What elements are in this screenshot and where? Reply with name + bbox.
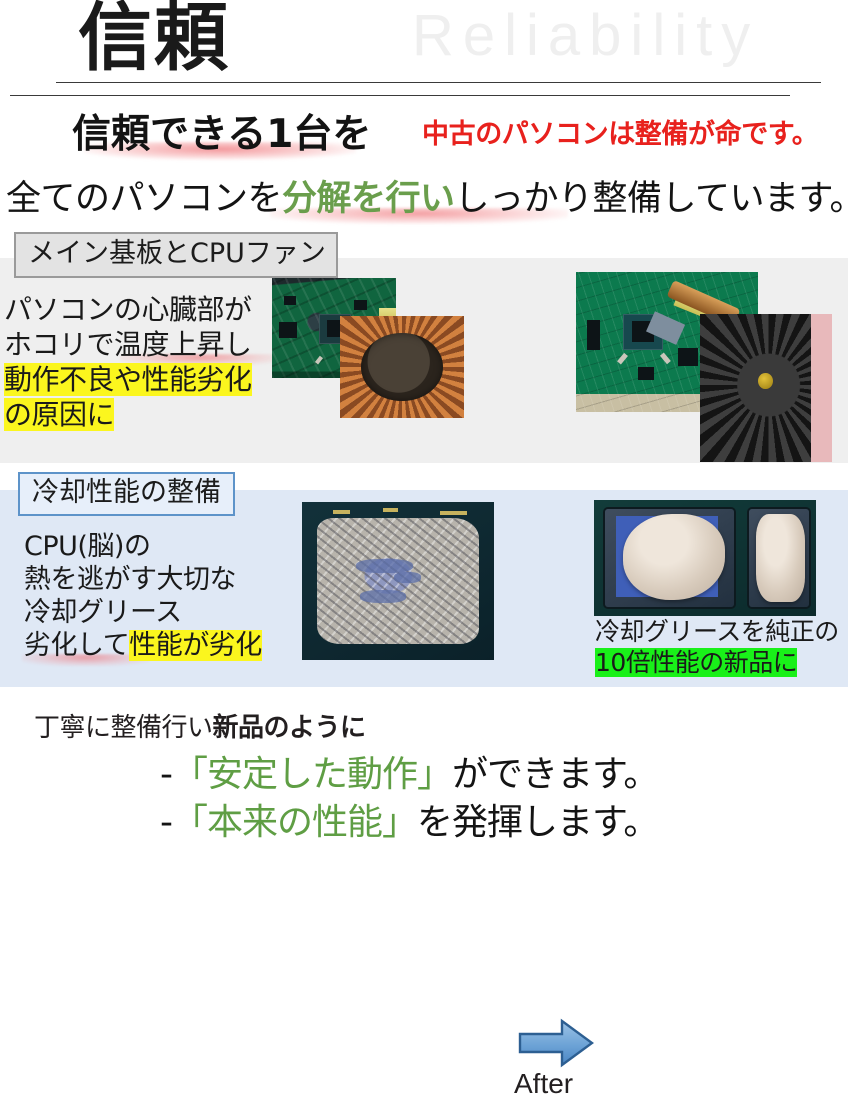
closing-statements: 丁寧に整備行い新品のように -「安定した動作」ができます。 -「本来の性能」を発… xyxy=(0,687,848,848)
section2-caption: 冷却グリースを純正の 10倍性能の新品に xyxy=(595,616,839,678)
after-arrow-2 xyxy=(518,1018,594,1073)
closing-line-2-green: 「安定した動作」 xyxy=(172,754,452,795)
photo-thermal-grease-before xyxy=(302,502,494,660)
closing-line-1: 丁寧に整備行い新品のように xyxy=(34,707,366,744)
section2-caption-line2: 10倍性能の新品に xyxy=(595,647,839,678)
section2-caption-line2-text: 10倍性能の新品に xyxy=(595,648,797,677)
section1-tag: メイン基板とCPUファン xyxy=(14,232,338,278)
section2-caption-line1: 冷却グリースを純正の xyxy=(595,616,839,647)
section2-caption-line1-text: 冷却グリースを純正の xyxy=(595,617,839,646)
section1-line-2-text: ホコリで温度上昇し xyxy=(4,328,252,361)
closing-line-2-dash: - xyxy=(160,754,172,795)
closing-line-2-rest: ができます。 xyxy=(452,754,658,795)
closing-line-1-b: 新品のように xyxy=(213,713,366,743)
subheading-main: 信頼できる1台を xyxy=(72,103,371,159)
closing-line-3-green: 「本来の性能」 xyxy=(172,802,417,843)
section2-line-4-highlight: 性能が劣化 xyxy=(129,630,262,661)
section2-line-2: 熱を逃がす大切な xyxy=(24,563,262,596)
section-mainboard-and-fan: メイン基板とCPUファン パソコンの心臓部が ホコリで温度上昇し 動作不良や性能… xyxy=(0,258,848,463)
hero-header: Reliability 信頼 xyxy=(0,0,848,100)
section1-line-4: の原因に xyxy=(4,397,252,432)
header-rule-bottom xyxy=(10,95,790,96)
section2-line-2-text: 熱を逃がす大切な xyxy=(24,564,236,595)
poster-root: Reliability 信頼 信頼できる1台を 中古のパソコンは整備が命です。 … xyxy=(0,0,848,848)
section2-text-block: CPU(脳)の 熱を逃がす大切な 冷却グリース 劣化して性能が劣化 xyxy=(24,530,262,662)
after-label-2: After xyxy=(514,1068,573,1100)
lead-part2: しっかり整備しています。 xyxy=(455,179,848,219)
closing-line-3-dash: - xyxy=(160,802,172,843)
watermark-reliability: Reliability xyxy=(412,2,759,69)
page-title: 信頼 xyxy=(78,0,230,81)
photo-cpu-fan-after xyxy=(700,314,832,462)
section1-line-4-text: の原因に xyxy=(4,398,114,431)
photo-cpu-fan-before xyxy=(340,316,464,418)
section2-tag: 冷却性能の整備 xyxy=(18,472,235,516)
section1-line-3-text: 動作不良や性能劣化 xyxy=(4,363,252,396)
section2-line-4: 劣化して性能が劣化 xyxy=(24,629,262,662)
section2-line-3-text: 冷却グリース xyxy=(24,597,182,628)
section2-line-1: CPU(脳)の xyxy=(24,530,262,563)
arrow-right-icon xyxy=(518,1018,594,1068)
lead-sentence: 全てのパソコンを分解を行いしっかり整備しています。 xyxy=(6,170,848,221)
section1-text-block: パソコンの心臓部が ホコリで温度上昇し 動作不良や性能劣化 の原因に xyxy=(4,292,252,432)
closing-line-1-a: 丁寧に整備行い xyxy=(34,713,213,743)
header-rule-top xyxy=(56,82,821,83)
pink-mat xyxy=(811,314,832,462)
subheading-row: 信頼できる1台を 中古のパソコンは整備が命です。 xyxy=(0,104,848,156)
lead-row: 全てのパソコンを分解を行いしっかり整備しています。 xyxy=(0,172,848,222)
section-cooling-grease: 冷却性能の整備 CPU(脳)の 熱を逃がす大切な 冷却グリース 劣化して性能が劣… xyxy=(0,490,848,687)
subheading-red-note: 中古のパソコンは整備が命です。 xyxy=(422,112,818,151)
lead-highlight: 分解を行い xyxy=(282,179,455,219)
section1-line-3: 動作不良や性能劣化 xyxy=(4,362,252,397)
closing-line-3: -「本来の性能」を発揮します。 xyxy=(160,793,658,845)
closing-line-3-rest: を発揮します。 xyxy=(417,802,658,843)
section2-line-4-text: 劣化して xyxy=(24,630,129,661)
section2-line-3: 冷却グリース xyxy=(24,596,262,629)
section1-line-1: パソコンの心臓部が xyxy=(4,292,252,327)
lead-part1: 全てのパソコンを xyxy=(6,179,282,219)
section1-line-1-text: パソコンの心臓部が xyxy=(4,293,252,326)
photo-thermal-grease-after xyxy=(594,500,816,616)
section2-line-1-text: CPU(脳)の xyxy=(24,531,150,562)
closing-line-2: -「安定した動作」ができます。 xyxy=(160,745,658,797)
section1-line-2: ホコリで温度上昇し xyxy=(4,327,252,362)
fan-hub xyxy=(758,373,773,389)
